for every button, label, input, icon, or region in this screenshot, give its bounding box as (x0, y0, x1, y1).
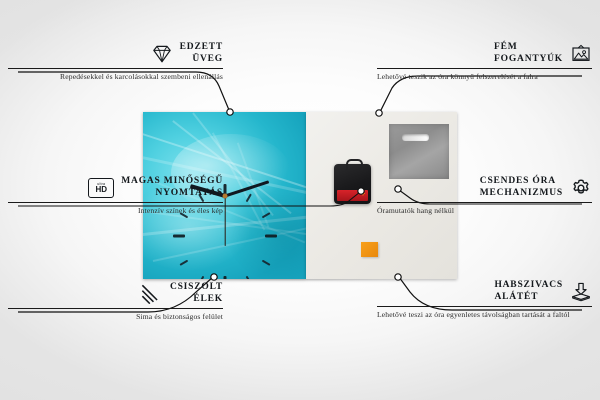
divider (8, 68, 223, 69)
hd-label: HD (95, 186, 107, 194)
tick-5 (245, 275, 251, 279)
mechanism-loop (346, 159, 363, 170)
minute-hand (224, 180, 269, 197)
feature-title: FÉM FOGANTYÚK (494, 42, 563, 65)
feature-description: Sima és biztonságos felület (8, 312, 223, 322)
diagonal-lines-icon (141, 284, 163, 304)
tick-9 (173, 234, 185, 237)
feature-description: Lehetővé teszi az óra egyenletes távolsá… (377, 310, 592, 320)
divider (377, 202, 592, 203)
feature-title: HABSZIVACS ALÁTÉT (494, 280, 563, 303)
feature-header: CSENDES ÓRA MECHANIZMUS (377, 176, 592, 199)
feature-description: Intenzív színek és éles kép (8, 206, 223, 216)
tick-4 (261, 259, 270, 265)
feature-title: EDZETT ÜVEG (180, 42, 223, 65)
quartz-mechanism: + (334, 164, 371, 204)
feature-polished-edges: CSISZOLT ÉLEK Sima és biztonságos felüle… (8, 282, 223, 322)
divider (8, 308, 223, 309)
feature-description: Repedésekkel és karcolásokkal szembeni e… (8, 72, 223, 82)
feature-foam-pad: HABSZIVACS ALÁTÉT Lehetővé teszi az óra … (377, 280, 592, 320)
ultra-hd-badge-icon: ultra HD (88, 178, 114, 198)
tick-2 (261, 212, 270, 218)
tick-8 (179, 259, 188, 265)
diamond-icon (151, 44, 173, 64)
divider (377, 306, 592, 307)
battery-plus-icon: + (360, 191, 366, 197)
divider (8, 202, 223, 203)
tick-6 (223, 276, 226, 280)
infographic-canvas: + (0, 0, 600, 400)
picture-hanger-icon (570, 44, 592, 64)
battery: + (337, 190, 368, 201)
feature-header: ultra HD MAGAS MINŐSÉGŰ NYOMTATÁS (8, 176, 223, 199)
feature-metal-handles: FÉM FOGANTYÚK Lehetővé teszik az óra kön… (377, 42, 592, 82)
feature-high-quality-print: ultra HD MAGAS MINŐSÉGŰ NYOMTATÁS Intenz… (8, 176, 223, 216)
feature-header: FÉM FOGANTYÚK (377, 42, 592, 65)
feature-description: Óramutatók hang nélkül (377, 206, 592, 216)
feature-silent-mechanism: CSENDES ÓRA MECHANIZMUS Óramutatók hang … (377, 176, 592, 216)
feature-header: HABSZIVACS ALÁTÉT (377, 280, 592, 303)
divider (377, 68, 592, 69)
feature-title: MAGAS MINŐSÉGŰ NYOMTATÁS (121, 176, 223, 199)
second-hand (224, 196, 225, 246)
feature-header: CSISZOLT ÉLEK (8, 282, 223, 305)
feature-title: CSISZOLT ÉLEK (170, 282, 223, 305)
metal-hanger-plate (389, 124, 449, 179)
tick-1 (245, 193, 251, 202)
feature-tempered-glass: EDZETT ÜVEG Repedésekkel és karcolásokka… (8, 42, 223, 82)
tick-3 (265, 234, 277, 237)
feature-description: Lehetővé teszik az óra könnyű felszerelé… (377, 72, 592, 82)
arrow-onto-pad-icon (570, 282, 592, 302)
hanger-slot (402, 134, 429, 141)
feature-title: CSENDES ÓRA MECHANIZMUS (480, 176, 563, 199)
foam-pad (361, 242, 378, 257)
feature-header: EDZETT ÜVEG (8, 42, 223, 65)
gear-icon (570, 178, 592, 198)
tick-7 (198, 275, 204, 279)
